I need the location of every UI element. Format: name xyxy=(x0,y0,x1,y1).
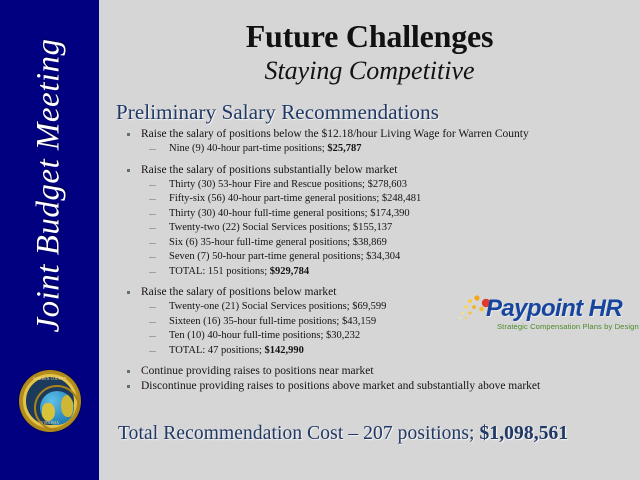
section-heading: Preliminary Salary Recommendations xyxy=(116,100,636,125)
square-bullet-icon xyxy=(127,370,130,373)
seal-text-top: WARREN COUNTY xyxy=(19,377,81,381)
bullet-level1-label: Discontinue providing raises to position… xyxy=(141,380,540,392)
dash-bullet-icon xyxy=(149,351,156,352)
total-label: Total Recommendation Cost – 207 position… xyxy=(118,423,480,444)
bullet-level2-amount: $929,784 xyxy=(270,266,309,277)
bullet-level2-label: Ten (10) 40-hour full-time positions; xyxy=(169,330,326,341)
bullet-level2-amount: $142,990 xyxy=(265,345,304,356)
bullet-level2: Thirty (30) 53-hour Fire and Rescue posi… xyxy=(121,178,636,193)
dash-bullet-icon xyxy=(149,199,156,200)
dash-bullet-icon xyxy=(149,336,156,337)
bullet-level2: TOTAL: 151 positions; $929,784 xyxy=(121,265,636,280)
square-bullet-icon xyxy=(127,291,130,294)
recommendation-group: Raise the salary of positions substantia… xyxy=(121,163,636,280)
bullet-level2-amount: $25,787 xyxy=(327,143,361,154)
sidebar-title-container: Joint Budget Meeting xyxy=(0,0,99,370)
dash-bullet-icon xyxy=(149,149,156,150)
bullet-level1: Discontinue providing raises to position… xyxy=(121,379,636,394)
seal-outer-ring xyxy=(23,374,77,428)
bullet-level2-label: Fifty-six (56) 40-hour part-time general… xyxy=(169,193,382,204)
bullet-level2-label: Twenty-one (21) Social Services position… xyxy=(169,301,352,312)
sidebar-meeting-title: Joint Budget Meeting xyxy=(31,38,68,332)
slide-sidebar-banner: Joint Budget Meeting WARREN COUNTY VIRGI… xyxy=(0,0,99,480)
bullet-level2-amount: $38,869 xyxy=(353,237,387,248)
bullet-level2-amount: $34,304 xyxy=(366,251,400,262)
slide-header: Future Challenges Staying Competitive xyxy=(99,20,640,85)
bullet-level2-amount: $30,232 xyxy=(326,330,360,341)
bullet-level1-label: Continue providing raises to positions n… xyxy=(141,365,374,377)
seal-text-bottom: VIRGINIA xyxy=(19,421,81,425)
bullet-level1-label: Raise the salary of positions below mark… xyxy=(141,286,336,298)
dash-bullet-icon xyxy=(149,307,156,308)
bullet-level2-label: TOTAL: 151 positions; xyxy=(169,266,270,277)
square-bullet-icon xyxy=(127,133,130,136)
bullet-level2-amount: $278,603 xyxy=(368,179,407,190)
paypoint-wordmark: Paypoint HR xyxy=(486,295,622,323)
warren-county-seal-icon: WARREN COUNTY VIRGINIA xyxy=(19,370,81,432)
recommendation-group: Raise the salary of positions below the … xyxy=(121,127,636,157)
recommendation-group: Continue providing raises to positions n… xyxy=(121,364,636,379)
bullet-level2-label: Sixteen (16) 35-hour full-time positions… xyxy=(169,316,342,327)
bullet-level2-amount: $69,599 xyxy=(352,301,386,312)
total-amount: $1,098,561 xyxy=(480,423,569,444)
bullet-level2: TOTAL: 47 positions; $142,990 xyxy=(121,344,636,359)
bullet-level1: Raise the salary of positions below the … xyxy=(121,127,636,142)
bullet-level2-amount: $155,137 xyxy=(353,222,392,233)
bullet-level2-amount: $174,390 xyxy=(370,208,409,219)
bullet-level1-label: Raise the salary of positions substantia… xyxy=(141,164,397,176)
bullet-level2: Six (6) 35-hour full-time general positi… xyxy=(121,236,636,251)
bullet-level2: Thirty (30) 40-hour full-time general po… xyxy=(121,207,636,222)
bullet-level2: Twenty-two (22) Social Services position… xyxy=(121,221,636,236)
bullet-level2: Fifty-six (56) 40-hour part-time general… xyxy=(121,192,636,207)
total-recommendation-cost: Total Recommendation Cost – 207 position… xyxy=(118,423,638,445)
paypoint-hr-logo: Paypoint HR Strategic Compensation Plans… xyxy=(456,292,628,336)
seal-landmass-right xyxy=(61,395,73,417)
seal-globe-icon xyxy=(40,391,74,425)
dash-bullet-icon xyxy=(149,272,156,273)
page-subtitle: Staying Competitive xyxy=(99,56,640,86)
bullet-level2-label: Nine (9) 40-hour part-time positions; xyxy=(169,143,327,154)
dash-bullet-icon xyxy=(149,185,156,186)
bullet-level2: Seven (7) 50-hour part-time general posi… xyxy=(121,250,636,265)
seal-landmass-left xyxy=(42,403,55,421)
paypoint-tagline: Strategic Compensation Plans by Design xyxy=(497,322,639,331)
recommendation-group: Discontinue providing raises to position… xyxy=(121,379,636,394)
dash-bullet-icon xyxy=(149,322,156,323)
square-bullet-icon xyxy=(127,385,130,388)
bullet-level2-label: Six (6) 35-hour full-time general positi… xyxy=(169,237,353,248)
dash-bullet-icon xyxy=(149,243,156,244)
square-bullet-icon xyxy=(127,169,130,172)
slide-content-area: Future Challenges Staying Competitive Pr… xyxy=(99,0,640,480)
bullet-level2-label: Thirty (30) 40-hour full-time general po… xyxy=(169,208,370,219)
dash-bullet-icon xyxy=(149,228,156,229)
bullet-level2-label: Thirty (30) 53-hour Fire and Rescue posi… xyxy=(169,179,368,190)
bullet-level2-label: Twenty-two (22) Social Services position… xyxy=(169,222,353,233)
bullet-level1: Continue providing raises to positions n… xyxy=(121,364,636,379)
dash-bullet-icon xyxy=(149,214,156,215)
bullet-level1-label: Raise the salary of positions below the … xyxy=(141,128,529,140)
bullet-level2-label: TOTAL: 47 positions; xyxy=(169,345,265,356)
recommendations-list: Raise the salary of positions below the … xyxy=(121,127,636,394)
page-title: Future Challenges xyxy=(99,20,640,54)
bullet-level2: Nine (9) 40-hour part-time positions; $2… xyxy=(121,142,636,157)
bullet-level2-label: Seven (7) 50-hour part-time general posi… xyxy=(169,251,366,262)
presentation-slide: Joint Budget Meeting WARREN COUNTY VIRGI… xyxy=(0,0,640,480)
dash-bullet-icon xyxy=(149,257,156,258)
bullet-level2-amount: $248,481 xyxy=(382,193,421,204)
bullet-level2-amount: $43,159 xyxy=(342,316,376,327)
bullet-level1: Raise the salary of positions substantia… xyxy=(121,163,636,178)
